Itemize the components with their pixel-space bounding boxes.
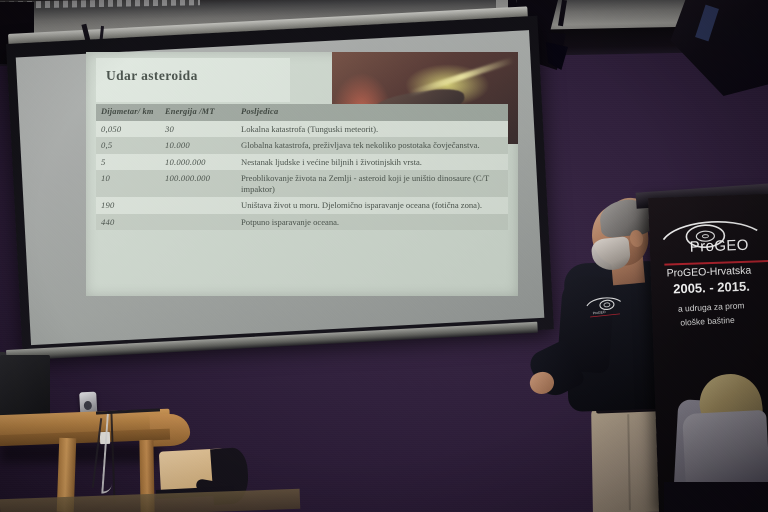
cell-diameter: 10 bbox=[96, 170, 160, 197]
banner-accent-rule bbox=[664, 260, 768, 266]
screenshot-root: Udar asteroida Dijametar/ km Energija /M… bbox=[0, 0, 768, 512]
svg-text:ProGEO: ProGEO bbox=[593, 310, 607, 315]
cell-energy: 100.000.000 bbox=[160, 170, 236, 197]
table-row: 0,510.000Globalna katastrofa, preživljav… bbox=[96, 137, 508, 153]
cell-energy bbox=[160, 214, 236, 230]
table-body: 0,05030Lokalna katastrofa (Tunguski mete… bbox=[96, 121, 508, 230]
laptop-monitor bbox=[0, 355, 50, 417]
table-row: 0,05030Lokalna katastrofa (Tunguski mete… bbox=[96, 121, 508, 137]
cell-diameter: 190 bbox=[96, 197, 160, 213]
cell-diameter: 0,5 bbox=[96, 137, 160, 153]
banner-logo-text: ProGEO bbox=[689, 237, 749, 256]
banner-subtitle: ProGEO-Hrvatska bbox=[666, 265, 751, 280]
column-header-energy: Energija /MT bbox=[160, 104, 236, 121]
cell-diameter: 0,050 bbox=[96, 121, 160, 137]
cell-consequence: Lokalna katastrofa (Tunguski meteorit). bbox=[236, 121, 508, 137]
column-header-diameter: Dijametar/ km bbox=[96, 104, 160, 121]
banner-tagline-line2: ološke baštine bbox=[680, 315, 735, 328]
table-header-row: Dijametar/ km Energija /MT Posljedica bbox=[96, 104, 508, 121]
cell-energy bbox=[160, 197, 236, 213]
projected-slide: Udar asteroida Dijametar/ km Energija /M… bbox=[86, 52, 518, 296]
cell-energy: 10.000.000 bbox=[160, 154, 236, 170]
asteroid-impact-table: Dijametar/ km Energija /MT Posljedica 0,… bbox=[96, 104, 508, 230]
progeo-logo-icon: ProGEO bbox=[582, 290, 629, 324]
cell-diameter: 5 bbox=[96, 154, 160, 170]
banner-years: 2005. - 2015. bbox=[673, 279, 750, 297]
cell-consequence: Uništava život u moru. Djelomično ispara… bbox=[236, 197, 508, 213]
device-lens-icon bbox=[84, 401, 92, 410]
trouser-crease bbox=[627, 414, 631, 510]
table-row: 190Uništava život u moru. Djelomično isp… bbox=[96, 197, 508, 213]
banner-tagline-line1: a udruga za prom bbox=[678, 300, 745, 313]
cell-diameter: 440 bbox=[96, 214, 160, 230]
dark-base bbox=[664, 482, 768, 512]
tshirt-progeo-logo: ProGEO bbox=[582, 290, 631, 340]
cell-consequence: Preoblikovanje života na Zemlji - astero… bbox=[236, 170, 508, 197]
column-header-consequence: Posljedica bbox=[236, 104, 508, 121]
cell-consequence: Potpuno isparavanje oceana. bbox=[236, 214, 508, 230]
slide-title: Udar asteroida bbox=[106, 68, 198, 84]
cell-consequence: Nestanak ljudske i većine biljnih i živo… bbox=[236, 154, 508, 170]
desk-shadow bbox=[0, 443, 160, 463]
table-row: 510.000.000Nestanak ljudske i većine bil… bbox=[96, 154, 508, 170]
cell-consequence: Globalna katastrofa, preživljava tek nek… bbox=[236, 137, 508, 153]
table-row: 440Potpuno isparavanje oceana. bbox=[96, 214, 508, 230]
cell-energy: 30 bbox=[160, 121, 236, 137]
cloth-table bbox=[682, 410, 768, 488]
cell-energy: 10.000 bbox=[160, 137, 236, 153]
table-row: 10100.000.000Preoblikovanje života na Ze… bbox=[96, 170, 508, 197]
